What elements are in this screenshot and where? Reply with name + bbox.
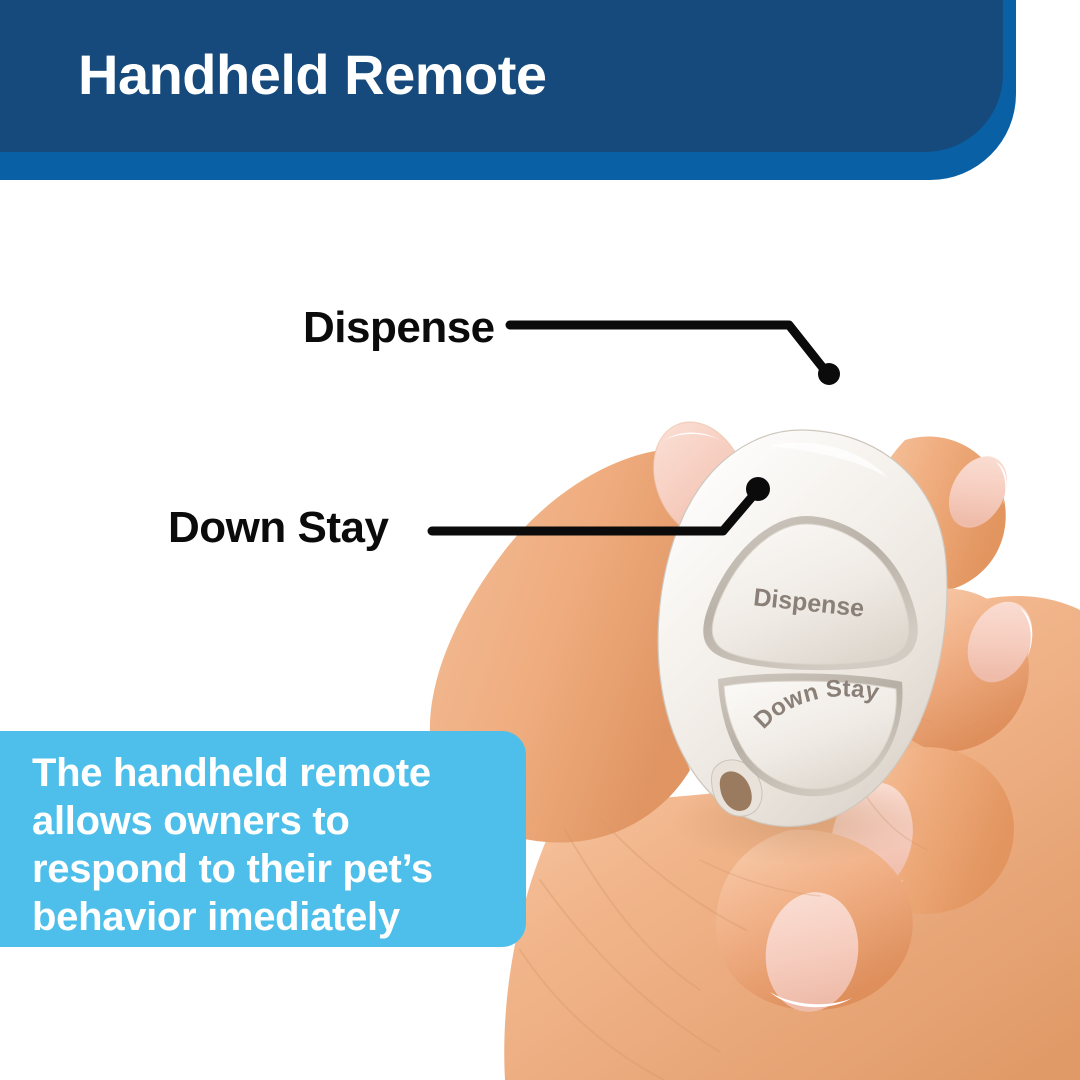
callout-label-dispense: Dispense [303, 303, 495, 353]
remote-device: Dispense Down Stay [658, 430, 947, 864]
infographic-page: Handheld Remote [0, 0, 1080, 1080]
page-title: Handheld Remote [78, 42, 547, 107]
callout-label-down-stay: Down Stay [168, 503, 388, 553]
caption-box: The handheld remote allows owners to res… [0, 731, 526, 947]
caption-text: The handheld remote allows owners to res… [32, 749, 496, 941]
header: Handheld Remote [0, 0, 1080, 200]
